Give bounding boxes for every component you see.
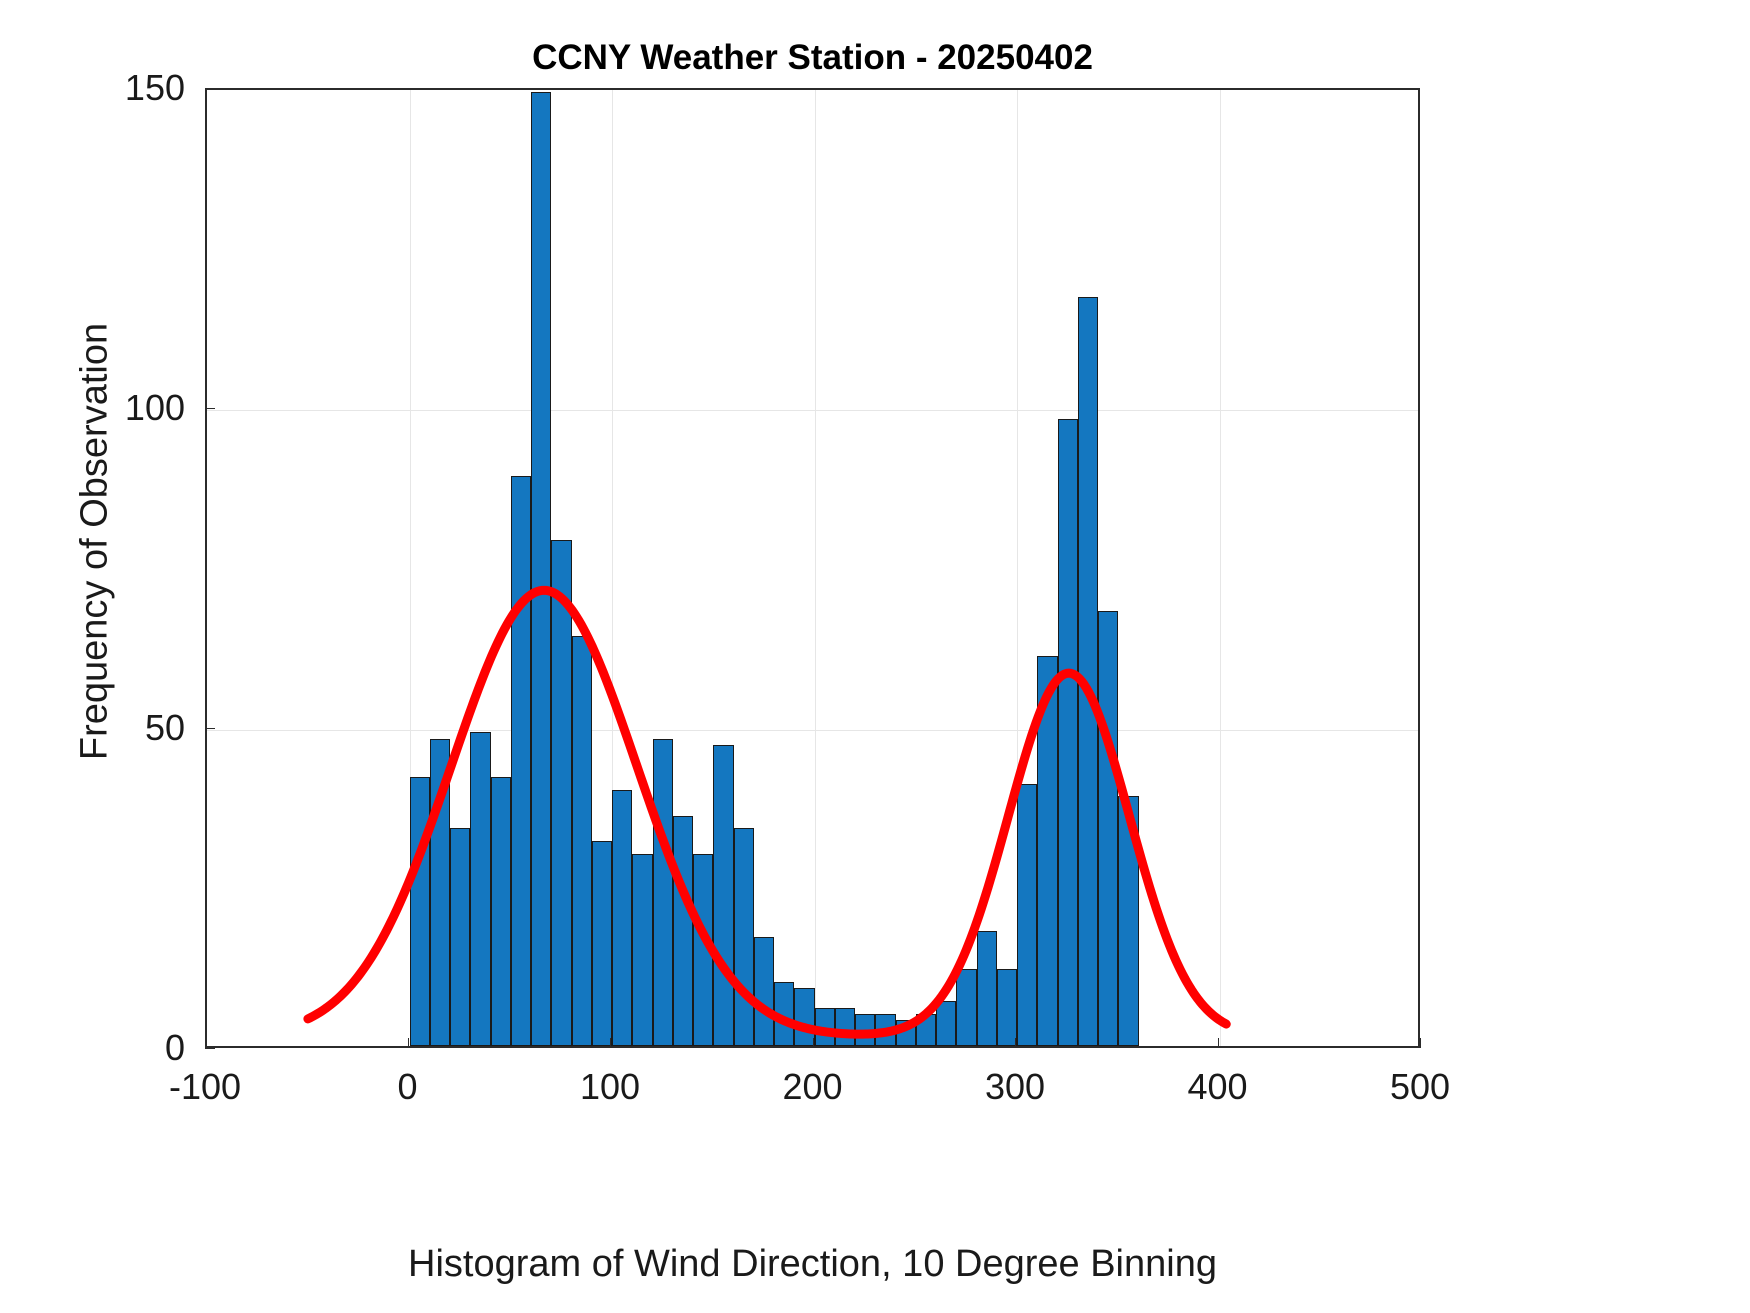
x-tick-label: 100 bbox=[580, 1066, 640, 1108]
y-tick-mark bbox=[205, 728, 215, 729]
x-tick-mark bbox=[610, 1038, 611, 1048]
x-tick-label: 500 bbox=[1390, 1066, 1450, 1108]
x-tick-mark bbox=[408, 1038, 409, 1048]
x-tick-mark bbox=[205, 1038, 206, 1048]
x-tick-mark bbox=[1420, 1038, 1421, 1048]
x-tick-label: 200 bbox=[782, 1066, 842, 1108]
y-axis-label: Frequency of Observation bbox=[74, 162, 117, 922]
x-tick-label: 0 bbox=[397, 1066, 417, 1108]
y-tick-mark bbox=[205, 408, 215, 409]
figure-canvas: CCNY Weather Station - 20250402 -1000100… bbox=[0, 0, 1750, 1313]
x-axis-label: Histogram of Wind Direction, 10 Degree B… bbox=[205, 1243, 1420, 1286]
x-tick-label: 400 bbox=[1187, 1066, 1247, 1108]
y-tick-mark bbox=[205, 88, 215, 89]
fitted-curve bbox=[207, 90, 1418, 1046]
x-tick-mark bbox=[1015, 1038, 1016, 1048]
x-tick-mark bbox=[813, 1038, 814, 1048]
plot-area bbox=[205, 88, 1420, 1048]
chart-title: CCNY Weather Station - 20250402 bbox=[205, 38, 1420, 78]
y-tick-label: 0 bbox=[0, 1027, 185, 1069]
x-tick-label: 300 bbox=[985, 1066, 1045, 1108]
x-tick-mark bbox=[1218, 1038, 1219, 1048]
y-tick-mark bbox=[205, 1048, 215, 1049]
y-tick-label: 150 bbox=[0, 67, 185, 109]
x-tick-label: -100 bbox=[169, 1066, 241, 1108]
